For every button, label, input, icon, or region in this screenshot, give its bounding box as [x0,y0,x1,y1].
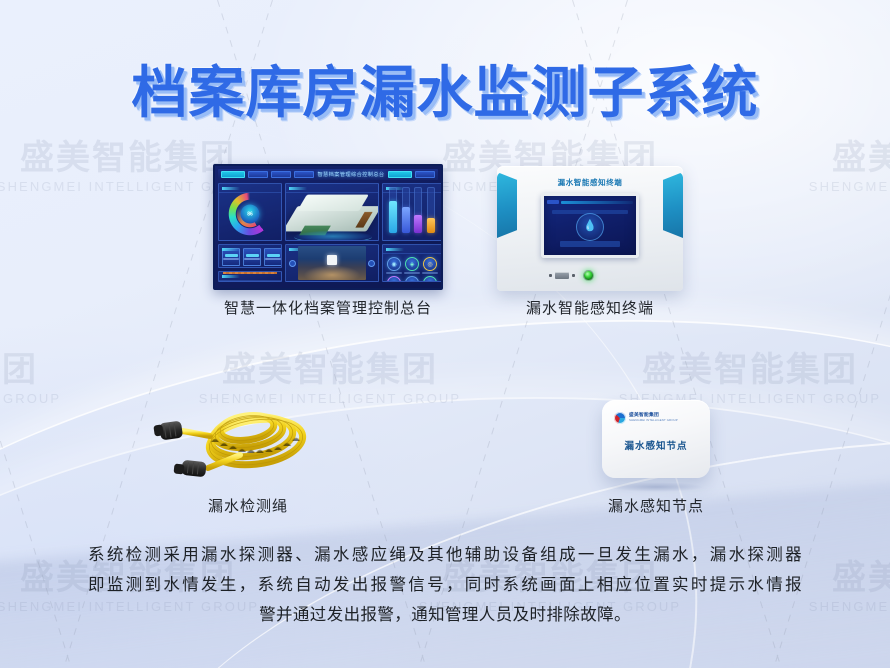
rope-connector-lower [174,460,207,477]
brand-mark-icon [614,412,626,424]
terminal-port [555,272,569,279]
terminal-screen-header [547,199,633,205]
next-arrow-icon[interactable] [368,260,375,267]
grid-cell: ◉ [386,257,402,274]
product-console[interactable]: 智慧档案管理综合控制总台 86 [213,164,443,290]
device-icon-grid-panel: ◉ ◈ ◎ ◍ ◆ ✦ [382,244,442,282]
footer-description: 系统检测采用漏水探测器、漏水感应绳及其他辅助设备组成一旦发生漏水，漏水探测器 即… [88,540,802,630]
product-node[interactable]: 盛美智能集团 SHENGMEI INTELLIGENT GROUP 漏水感知节点 [602,400,710,490]
leak-rope-illustration [148,398,348,498]
water-drop-icon: 💧 [583,221,597,232]
nav-pill [294,171,314,178]
console-left-column: 86 温度 湿度 [218,183,282,282]
footer-line-2: 即监测到水情发生，系统自动发出报警信号，同时系统画面上相应位置实时提示水情报 [88,570,802,600]
grid-cell: ◍ [386,276,402,282]
poster-page: 盛美智能集团 SHENGMEI INTELLIGENT GROUP 盛美智能集团… [0,0,890,668]
node-brand-en: SHENGMEI INTELLIGENT GROUP [629,419,678,423]
area-chart-legend: 温度 湿度 [219,281,281,282]
nav-pill [271,171,291,178]
bar-item [402,187,410,233]
page-title: 档案库房漏水监测子系统 [132,48,759,129]
console-screen: 智慧档案管理综合控制总台 86 [213,164,443,290]
terminal-status-led [583,270,594,281]
bar-item [414,187,422,233]
watermark-en: SHENGMEI INTELLIGENT GROUP [790,597,890,617]
status-chip[interactable] [264,248,282,266]
node-brand-logo: 盛美智能集团 SHENGMEI INTELLIGENT GROUP [614,412,678,424]
watermark-en: SHENGMEI INTELLIGENT GROUP [0,389,80,409]
area-chart-plot [223,271,277,276]
console-right-column: ◉ ◈ ◎ ◍ ◆ ✦ [382,183,442,282]
power-icon[interactable]: ◎ [423,257,437,271]
water-drop-indicator: 💧 [576,213,604,241]
console-screen-header: 智慧档案管理综合控制总台 [218,169,438,180]
camera-feed-image [298,246,366,280]
status-chip[interactable] [222,248,240,266]
radial-gauge: 86 [228,192,272,236]
access-icon[interactable]: ◍ [387,276,401,282]
grid-cell: ◆ [404,276,420,282]
grid-cell: ✦ [422,276,438,282]
caption-terminal: 漏水智能感知终端 [497,297,683,318]
footer-line-3: 警并通过发出报警，通知管理人员及时排除故障。 [88,600,802,630]
area-chart-panel: 温度 湿度 [218,271,282,282]
terminal-device-label: 漏水智能感知终端 [497,177,683,188]
watermark-cn: 盛美智能集团 [180,352,480,389]
page-title-wrap: 档案库房漏水监测子系统 [0,48,890,129]
watermark-cn: 盛美智能集团 [600,352,890,389]
archive-building-3d-model [286,187,378,237]
terminal-body: 漏水智能感知终端 💧 [497,166,683,291]
bar-item [389,187,397,233]
caption-rope: 漏水检测绳 [148,495,348,516]
watermark-cn: 盛美智能集团 [0,352,80,389]
grid-cell: ◈ [404,257,420,274]
product-rope[interactable] [148,398,348,498]
bar-item [427,187,435,233]
device-icon-grid: ◉ ◈ ◎ ◍ ◆ ✦ [383,254,441,279]
gauge-value: 86 [241,205,260,224]
status-chip[interactable] [243,248,261,266]
humidity-icon[interactable]: ◉ [387,257,401,271]
settings-icon[interactable]: ✦ [423,276,437,282]
product-terminal[interactable]: 漏水智能感知终端 💧 [497,166,683,291]
console-center-column [285,183,379,282]
console-screen-body: 86 温度 湿度 [218,183,438,282]
node-device-label: 漏水感知节点 [602,438,710,452]
status-chips-panel [218,244,282,268]
footer-line-1: 系统检测采用漏水探测器、漏水感应绳及其他辅助设备组成一旦发生漏水，漏水探测器 [88,540,802,570]
nav-pill-right [388,171,412,178]
nav-pill-active [221,171,245,178]
node-body: 盛美智能集团 SHENGMEI INTELLIGENT GROUP 漏水感知节点 [602,400,710,478]
rope-connector-upper [153,421,183,441]
temperature-icon[interactable]: ◈ [405,257,419,271]
watermark-cn: 盛美智能集团 [790,560,890,597]
grid-cell: ◎ [422,257,438,274]
camera-feed-panel [285,244,379,282]
bar-chart-panel [382,183,442,241]
building-model-panel [285,183,379,241]
console-screen-title: 智慧档案管理综合控制总台 [317,171,385,178]
prev-arrow-icon[interactable] [289,260,296,267]
alarm-icon[interactable]: ◆ [405,276,419,282]
watermark-en: SHENGMEI INTELLIGENT GROUP [790,177,890,197]
nav-pill-right [415,171,435,178]
terminal-screen[interactable]: 💧 [541,193,639,258]
node-shadow [608,482,704,492]
caption-node: 漏水感知节点 [594,495,718,516]
bar-chart [383,193,441,238]
caption-console: 智慧一体化档案管理控制总台 [213,297,443,318]
nav-pill [248,171,268,178]
watermark-cn: 盛美智能集团 [790,140,890,177]
gauge-panel: 86 [218,183,282,241]
